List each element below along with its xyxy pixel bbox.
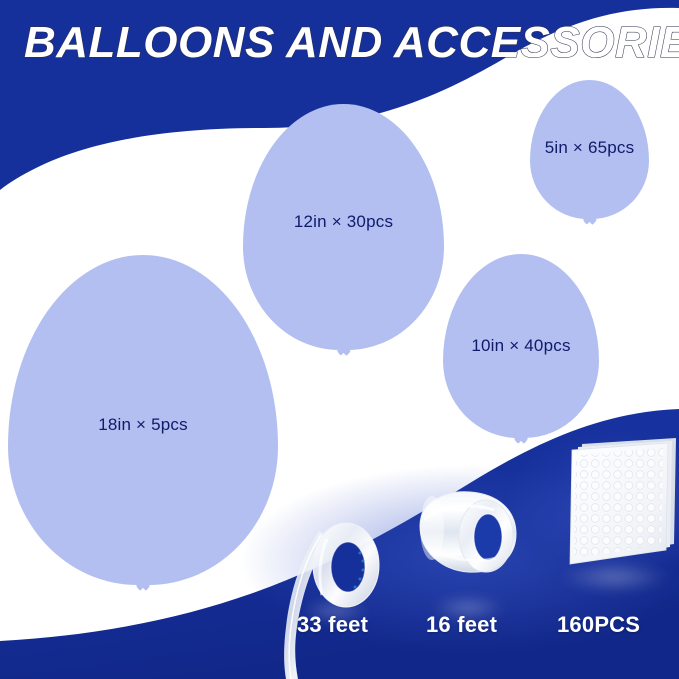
page-title: BALLOONS AND ACCESSORIES [24,18,679,68]
balloon-arch-tape [400,480,530,610]
balloon-label-18in: 18in × 5pcs [98,415,188,435]
balloon-label-5in: 5in × 65pcs [545,138,635,158]
glue-dots-count: 160 [557,612,594,637]
balloon-label-12in: 12in × 30pcs [294,212,393,232]
glue-dot-sheets [556,436,678,572]
balloon-strip-tape [272,495,412,679]
product-infographic: BALLOONS AND ACCESSORIES 18in × 5pcs 12i… [0,0,679,679]
accessory-label-glue-dots: 160PCS [557,612,640,638]
glue-dots-unit: PCS [594,612,640,637]
balloon-label-10in: 10in × 40pcs [471,336,570,356]
balloon-10in: 10in × 40pcs [443,254,599,438]
accessory-label-tape-16ft: 16 feet [426,612,497,638]
accessory-label-tape-33ft: 33 feet [297,612,368,638]
balloon-12in: 12in × 30pcs [243,104,444,350]
balloon-18in: 18in × 5pcs [8,255,278,585]
balloon-5in: 5in × 65pcs [530,80,649,219]
